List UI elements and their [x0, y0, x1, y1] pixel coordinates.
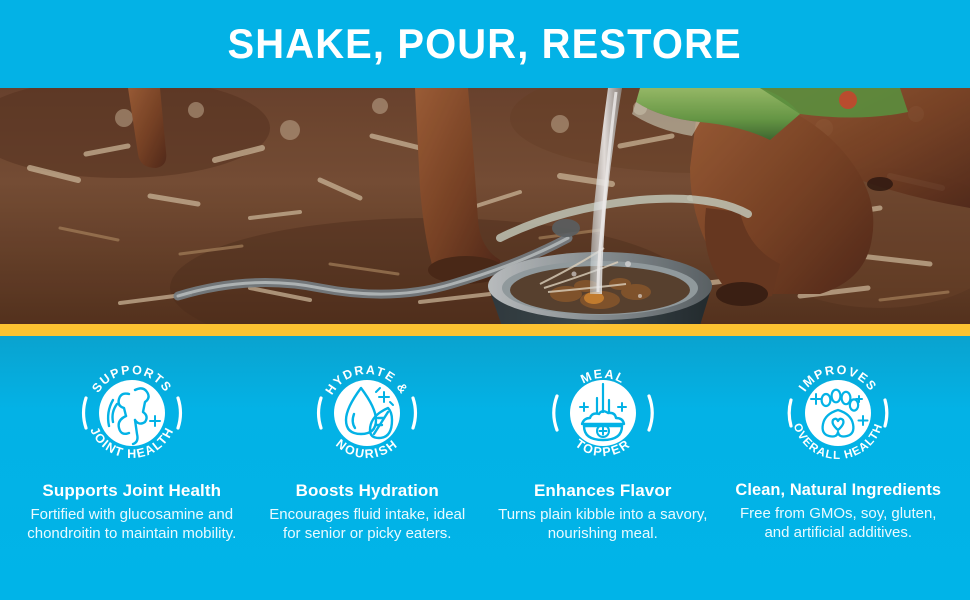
badge-improves-overall-health: IMPROVES OVERALL HEALTH: [779, 354, 897, 472]
benefit-item-joint-health: SUPPORTS JOINT HEALTH Supports Joint Hea…: [14, 354, 250, 543]
badge-hydrate-nourish: HYDRATE & NOURISH: [308, 354, 426, 472]
bone-joint-icon: SUPPORTS JOINT HEALTH: [73, 354, 191, 472]
banner-header: SHAKE, POUR, RESTORE: [0, 0, 970, 88]
food-bowl-icon: MEAL TOPPER: [544, 354, 662, 472]
benefit-title: Boosts Hydration: [296, 481, 439, 501]
benefit-description: Encourages fluid intake, ideal for senio…: [260, 505, 475, 543]
benefit-item-hydration: HYDRATE & NOURISH Boosts Hydration Encou…: [250, 354, 486, 543]
benefit-title: Supports Joint Health: [42, 481, 221, 501]
benefits-section: SUPPORTS JOINT HEALTH Supports Joint Hea…: [0, 336, 970, 600]
paw-heart-icon: IMPROVES OVERALL HEALTH: [779, 354, 897, 472]
benefit-title: Enhances Flavor: [534, 481, 672, 501]
benefit-title: Clean, Natural Ingredients: [735, 481, 941, 500]
water-droplet-leaf-icon: HYDRATE & NOURISH: [308, 354, 426, 472]
dog-eating-photo: [0, 88, 970, 324]
benefit-description: Fortified with glucosamine and chondroit…: [24, 505, 239, 543]
benefit-item-flavor: MEAL TOPPER Enhances Flavor Turns plain …: [485, 354, 721, 543]
benefit-item-ingredients: IMPROVES OVERALL HEALTH Clean, Natural I…: [721, 354, 957, 542]
product-benefits-banner: SHAKE, POUR, RESTORE: [0, 0, 970, 600]
badge-meal-topper: MEAL TOPPER: [544, 354, 662, 472]
page-title: SHAKE, POUR, RESTORE: [228, 23, 742, 65]
badge-supports-joint-health: SUPPORTS JOINT HEALTH: [73, 354, 191, 472]
benefit-description: Free from GMOs, soy, gluten, and artific…: [731, 504, 946, 542]
hero-photo: [0, 88, 970, 324]
divider-yellow: [0, 324, 970, 336]
benefit-description: Turns plain kibble into a savory, nouris…: [495, 505, 710, 543]
